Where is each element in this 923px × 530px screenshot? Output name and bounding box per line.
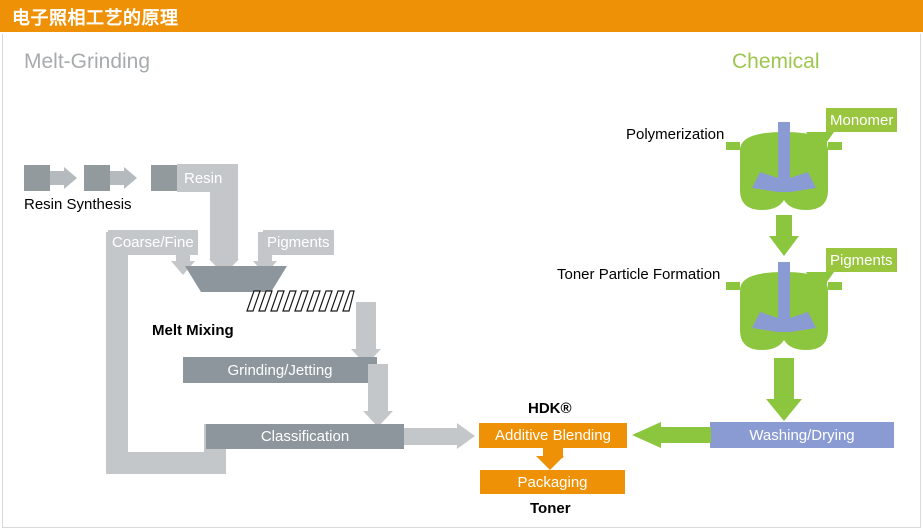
grinding-jetting-label: Grinding/Jetting [227, 362, 332, 379]
section-title-melt-grinding: Melt-Grinding [24, 50, 150, 74]
page-title: 电子照相工艺的原理 [12, 4, 179, 30]
barrel-to-grinding-arrow-stem [356, 302, 376, 350]
washing-to-blending-arrow-stem [661, 427, 711, 443]
washing-drying-label: Washing/Drying [749, 427, 854, 444]
recycle-loop-left-leg [106, 232, 128, 474]
resin-synthesis-step-2 [84, 165, 110, 191]
pigments-label-left: Pigments [263, 230, 334, 255]
polymerization-to-formation-arrow-stem [776, 215, 792, 237]
classification-to-blending-arrow-stem [404, 428, 457, 445]
extruder-screw-icon [245, 289, 355, 313]
additive-blending-bar: Additive Blending [479, 423, 627, 448]
slide-canvas: 电子照相工艺的原理 Melt-Grinding Chemical Resin S… [0, 0, 923, 530]
toner-label: Toner [530, 500, 571, 517]
coarse-fine-label: Coarse/Fine [108, 230, 198, 255]
resin-synthesis-label: Resin Synthesis [24, 196, 132, 213]
packaging-bar: Packaging [480, 470, 625, 494]
grinding-jetting-bar: Grinding/Jetting [183, 357, 377, 383]
packaging-label: Packaging [517, 474, 587, 491]
resin-synthesis-step-3 [151, 165, 177, 191]
melt-mixing-label: Melt Mixing [152, 322, 234, 339]
polymerization-reactor-icon [720, 122, 848, 218]
washing-to-blending-arrow-head [632, 422, 661, 448]
classification-bar: Classification [206, 424, 404, 449]
hdk-label: HDK® [528, 400, 572, 417]
toner-particle-formation-reactor-icon [720, 262, 848, 358]
washing-drying-bar: Washing/Drying [710, 422, 894, 448]
blending-to-packaging-arrow-head [536, 456, 564, 470]
polymerization-label: Polymerization [626, 126, 724, 143]
additive-blending-label: Additive Blending [495, 427, 611, 444]
classification-to-blending-arrow-head [457, 423, 475, 449]
toner-particle-formation-label: Toner Particle Formation [557, 266, 720, 283]
resin-arrow-label: Resin [180, 165, 226, 191]
grinding-to-classification-arrow-stem [368, 364, 388, 412]
formation-to-washing-arrow-head [766, 399, 802, 421]
resin-synthesis-arrow-1-stem [50, 171, 64, 185]
formation-to-washing-arrow-stem [774, 358, 794, 400]
polymerization-to-formation-arrow-head [769, 236, 799, 256]
resin-synthesis-arrow-2-stem [110, 171, 124, 185]
section-title-chemical: Chemical [732, 50, 820, 74]
resin-synthesis-step-1 [24, 165, 50, 191]
resin-synthesis-arrow-2-head [124, 167, 137, 189]
classification-label: Classification [261, 428, 349, 445]
resin-synthesis-arrow-1-head [64, 167, 77, 189]
